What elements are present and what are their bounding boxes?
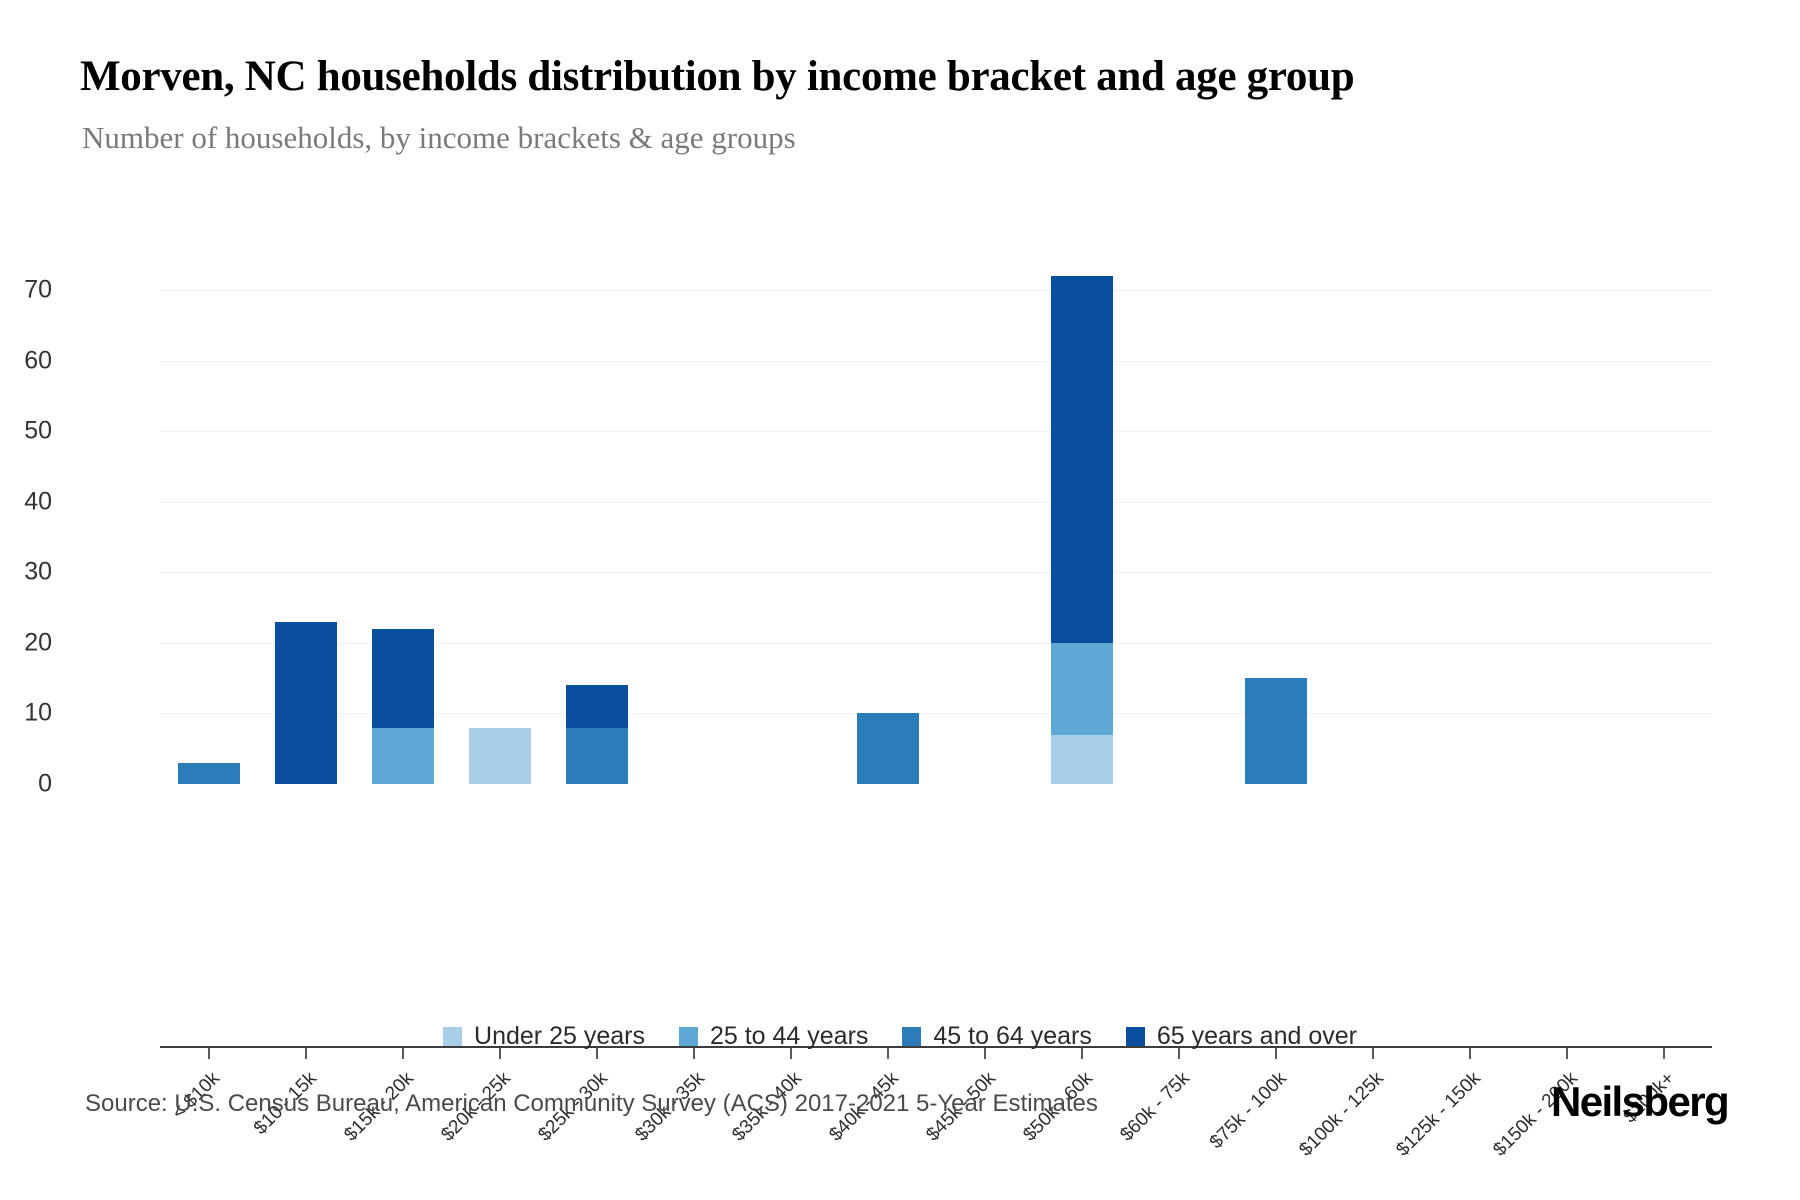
x-axis-tick-label: < $10k <box>0 1068 224 1200</box>
bar-segment[interactable] <box>1051 643 1113 735</box>
bar-stack[interactable] <box>954 262 1016 784</box>
bar-segment[interactable] <box>178 763 240 784</box>
legend-swatch-icon <box>443 1027 462 1046</box>
bar-stack[interactable] <box>1148 262 1210 784</box>
bar-stack[interactable] <box>1439 262 1501 784</box>
page-title: Morven, NC households distribution by in… <box>80 52 1720 101</box>
bar-segment[interactable] <box>1051 276 1113 643</box>
bar-stack[interactable] <box>372 262 434 784</box>
bar-stack[interactable] <box>857 262 919 784</box>
legend-item[interactable]: Under 25 years <box>443 1022 645 1051</box>
legend-label: 45 to 64 years <box>933 1022 1091 1051</box>
bar-segment[interactable] <box>566 728 628 784</box>
bar-segment[interactable] <box>275 622 337 784</box>
y-axis-tick-label: 40 <box>0 487 52 516</box>
bar-stack[interactable] <box>469 262 531 784</box>
bar-segment[interactable] <box>566 685 628 727</box>
bar-segment[interactable] <box>857 713 919 784</box>
bar-stack[interactable] <box>663 262 725 784</box>
y-axis-tick-label: 70 <box>0 276 52 305</box>
bar-stack[interactable] <box>275 262 337 784</box>
legend-label: 25 to 44 years <box>710 1022 868 1051</box>
bar-stack[interactable] <box>566 262 628 784</box>
y-axis-tick-label: 0 <box>0 770 52 799</box>
legend-item[interactable]: 65 years and over <box>1126 1022 1357 1051</box>
bar-stack[interactable] <box>1245 262 1307 784</box>
bar-segment[interactable] <box>1245 678 1307 784</box>
y-axis-tick-label: 30 <box>0 558 52 587</box>
plot-area: 010203040506070 < $10k$10 - 15k$15k - 20… <box>160 262 1712 784</box>
page-subtitle: Number of households, by income brackets… <box>82 120 1582 156</box>
bar-segment[interactable] <box>469 728 531 784</box>
y-axis-tick-label: 20 <box>0 628 52 657</box>
legend-label: Under 25 years <box>474 1022 645 1051</box>
legend-swatch-icon <box>902 1027 921 1046</box>
y-axis-tick-label: 50 <box>0 417 52 446</box>
source-note: Source: U.S. Census Bureau, American Com… <box>85 1090 1098 1118</box>
legend-label: 65 years and over <box>1157 1022 1357 1051</box>
brand-logo: Neilsberg <box>1551 1078 1728 1126</box>
bar-stack[interactable] <box>1633 262 1695 784</box>
bar-segment[interactable] <box>1051 735 1113 784</box>
legend: Under 25 years25 to 44 years45 to 64 yea… <box>0 1022 1800 1051</box>
bar-segment[interactable] <box>372 629 434 728</box>
legend-swatch-icon <box>1126 1027 1145 1046</box>
bar-stack[interactable] <box>1342 262 1404 784</box>
bar-stack[interactable] <box>178 262 240 784</box>
bar-stack[interactable] <box>760 262 822 784</box>
bar-stack[interactable] <box>1051 262 1113 784</box>
bar-segment[interactable] <box>372 728 434 784</box>
legend-swatch-icon <box>679 1027 698 1046</box>
y-axis-tick-label: 10 <box>0 699 52 728</box>
legend-item[interactable]: 25 to 44 years <box>679 1022 868 1051</box>
bar-stack[interactable] <box>1536 262 1598 784</box>
chart-page: Morven, NC households distribution by in… <box>0 0 1800 1200</box>
y-axis-tick-label: 60 <box>0 346 52 375</box>
legend-item[interactable]: 45 to 64 years <box>902 1022 1091 1051</box>
